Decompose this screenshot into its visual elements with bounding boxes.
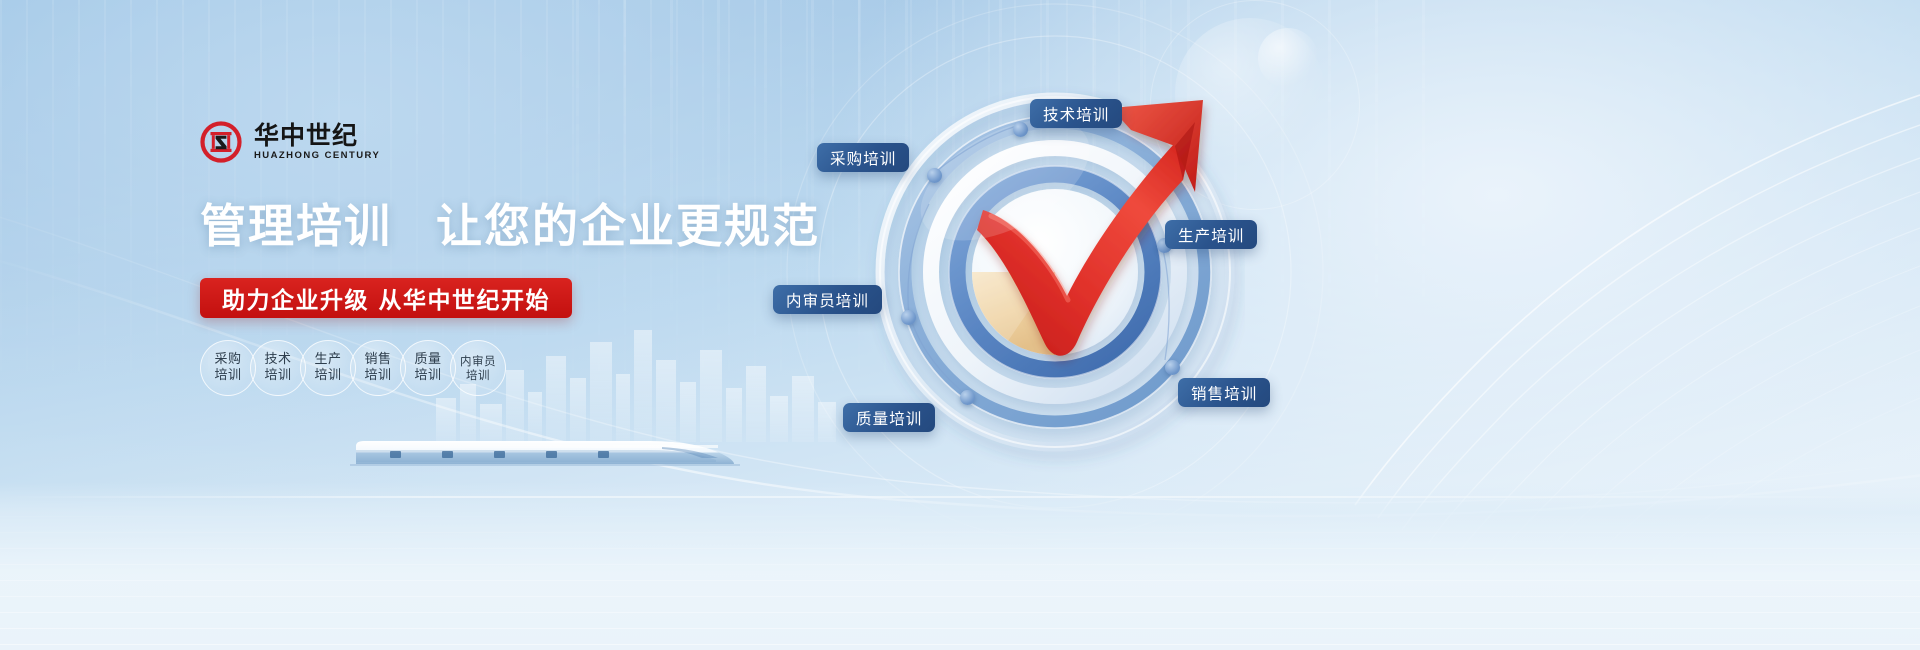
hero-text-block: 华中世纪 HUAZHONG CENTURY 管理培训 让您的企业更规范 助力企业…: [200, 120, 820, 396]
callout-neishenyuan-peixun[interactable]: 内审员培训: [773, 285, 882, 314]
tag-line-2: 培训: [364, 368, 391, 384]
promo-banner: 华中世纪 HUAZHONG CENTURY 管理培训 让您的企业更规范 助力企业…: [0, 0, 1920, 650]
training-tag-shengchan[interactable]: 生产 培训: [300, 340, 356, 396]
page-title: 管理培训 让您的企业更规范: [200, 190, 820, 256]
training-tag-neishenyuan[interactable]: 内审员 培训: [450, 340, 506, 396]
callout-caigou-peixun[interactable]: 采购培训: [817, 143, 909, 172]
training-tag-zhiliang[interactable]: 质量 培训: [400, 340, 456, 396]
brand-name-en: HUAZHONG CENTURY: [254, 150, 380, 161]
tag-line-2: 培训: [264, 368, 291, 384]
horizon-line: [0, 496, 1920, 498]
target-graphic-group: 技术培训 采购培训 生产培训 内审员培训 销售培训 质量培训: [865, 60, 1245, 490]
tag-line-1: 生产: [314, 352, 341, 368]
tag-line-1: 销售: [364, 352, 391, 368]
brand-name-cn: 华中世纪: [254, 123, 380, 149]
training-tag-list: 采购 培训 技术 培训 生产 培训 销售 培训 质量 培训 内审员 培训: [200, 340, 820, 396]
reflective-floor: [0, 482, 1920, 650]
tag-line-1: 内审员: [460, 354, 496, 368]
callout-node-neishen: [901, 310, 916, 325]
floor-perspective-lines: [0, 500, 1920, 650]
training-tag-caigou[interactable]: 采购 培训: [200, 340, 256, 396]
callout-zhiliang-peixun[interactable]: 质量培训: [843, 403, 935, 432]
bokeh-bubble-small: [1258, 28, 1318, 88]
headline-left: 管理培训: [200, 190, 392, 256]
tag-line-2: 培训: [414, 368, 441, 384]
slogan-badge: 助力企业升级 从华中世纪开始: [200, 278, 572, 318]
tag-line-2: 培训: [314, 368, 341, 384]
headline-right: 让您的企业更规范: [436, 190, 820, 256]
tag-line-1: 质量: [414, 352, 441, 368]
callout-node-zhiliang: [960, 390, 975, 405]
callout-node-caigou: [927, 168, 942, 183]
callout-jishu-peixun[interactable]: 技术培训: [1030, 99, 1122, 128]
tag-line-1: 采购: [214, 352, 241, 368]
training-tag-jishu[interactable]: 技术 培训: [250, 340, 306, 396]
high-speed-train: [350, 430, 740, 475]
training-tag-xiaoshou[interactable]: 销售 培训: [350, 340, 406, 396]
callout-node-xiaoshou: [1165, 360, 1180, 375]
callout-shengchan-peixun[interactable]: 生产培训: [1165, 220, 1257, 249]
tag-line-1: 技术: [264, 352, 291, 368]
callout-xiaoshou-peixun[interactable]: 销售培训: [1178, 378, 1270, 407]
tag-line-2: 培训: [214, 368, 241, 384]
brand-logo[interactable]: 华中世纪 HUAZHONG CENTURY: [200, 120, 820, 164]
callout-node-jishu: [1013, 122, 1028, 137]
tag-line-2: 培训: [466, 368, 490, 382]
huazhong-circle-z-logo-icon: [200, 121, 242, 163]
